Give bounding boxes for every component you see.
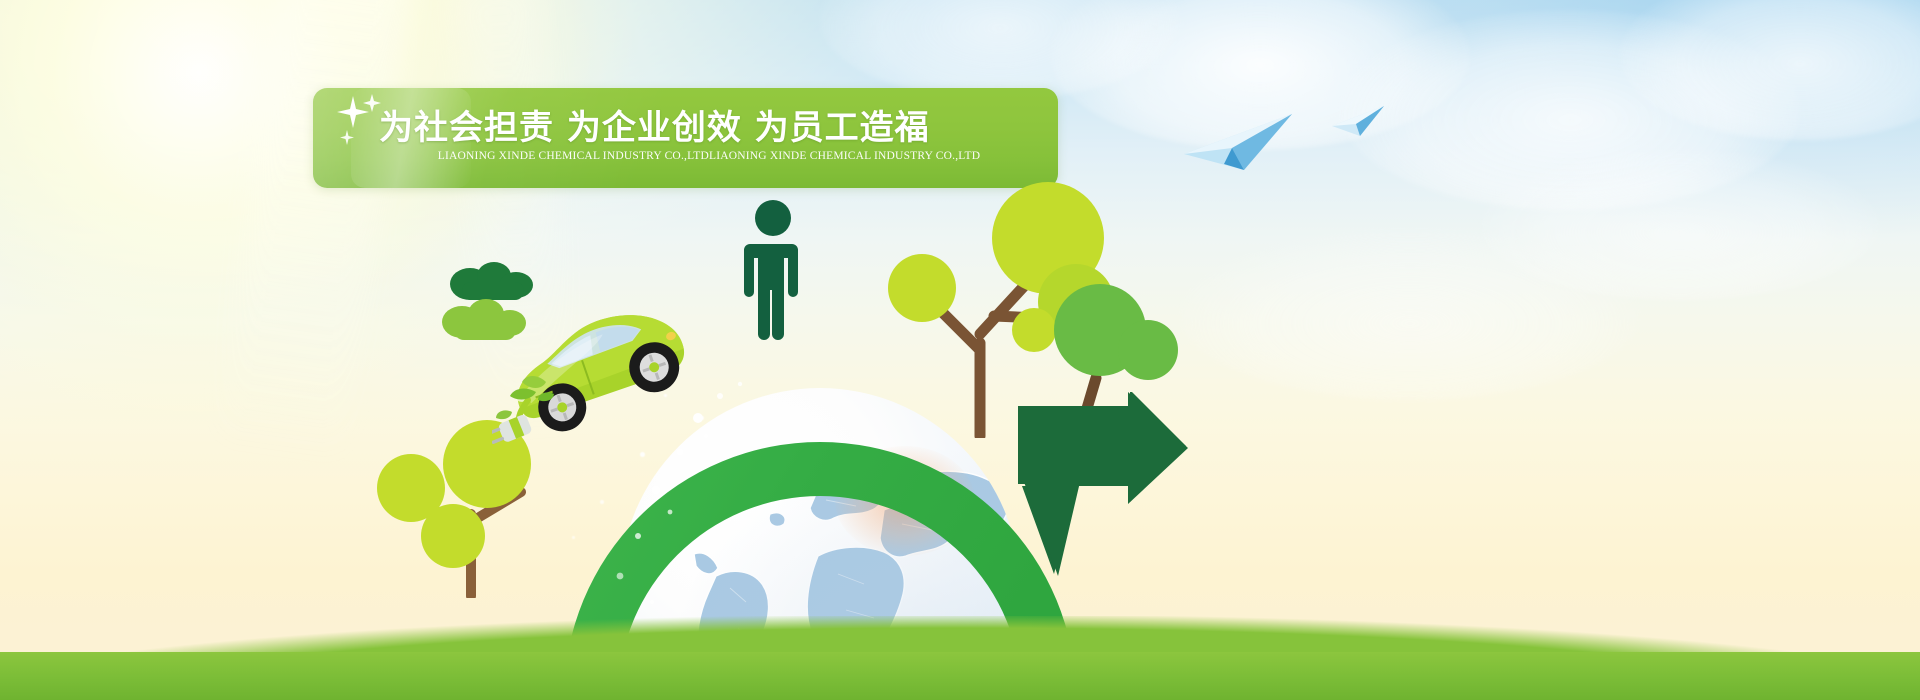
ground-strip — [0, 652, 1920, 700]
person-silhouette-icon — [742, 198, 804, 340]
sparkle-speck — [640, 452, 645, 457]
sparkle-speck — [700, 416, 704, 420]
sparkle-speck — [664, 394, 667, 397]
paper-plane-icon — [1180, 108, 1295, 178]
green-electric-car-icon — [492, 296, 704, 454]
paper-plane-icon — [1330, 104, 1386, 140]
sparkle-speck — [572, 536, 575, 539]
sparkle-speck — [600, 500, 604, 504]
banner-stage: 为社会担责 为企业创效 为员工造福 LIAONING XINDE CHEMICA… — [0, 0, 1920, 700]
cloud-icon — [1180, 230, 1640, 400]
